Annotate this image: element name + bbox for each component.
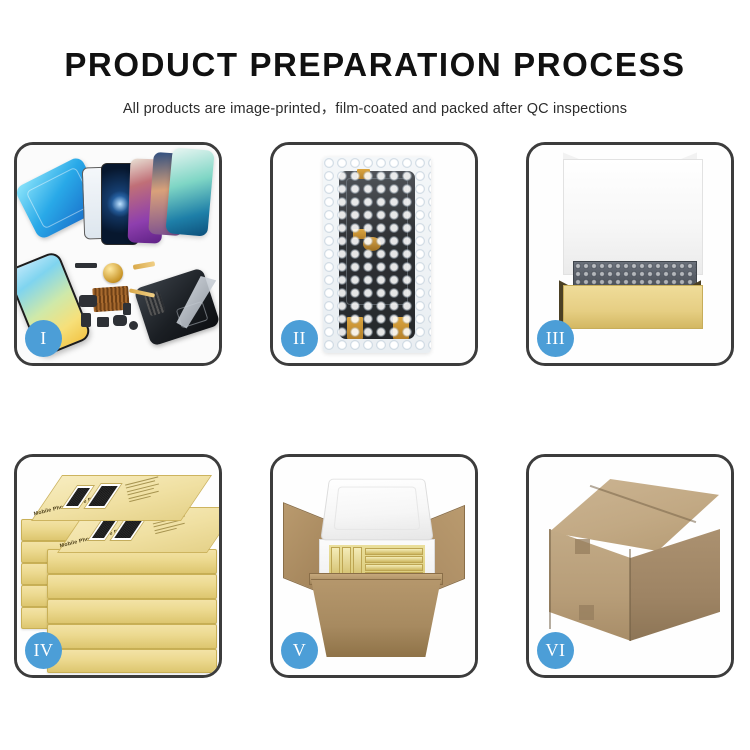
step-badge-1: I [25, 320, 62, 357]
wrapped-screen-assembly [339, 171, 415, 339]
process-step-grid: I II [14, 142, 738, 678]
carton-left-face [549, 529, 631, 641]
small-part [113, 315, 127, 326]
small-part [81, 313, 91, 327]
carton-tape-patch [579, 605, 594, 620]
tape-strip [357, 169, 370, 179]
bubble-wrap-bag [323, 157, 431, 353]
box-front-panel [563, 285, 703, 329]
tape-strip [347, 317, 363, 339]
process-step-4[interactable]: Mobile Phone Spare Parts Mobile Phone Sp… [14, 454, 222, 678]
printed-box-lid [31, 475, 212, 521]
carton-edge [629, 549, 631, 641]
process-step-2[interactable]: II [270, 142, 478, 366]
speaker-module-icon [103, 263, 123, 283]
small-part [75, 263, 97, 268]
phone-screen-teal [165, 147, 214, 236]
page-title: PRODUCT PREPARATION PROCESS [0, 0, 750, 81]
carton-tape-patch [575, 539, 590, 554]
carton-edge [549, 529, 551, 629]
small-part [79, 295, 97, 307]
stacked-box-edge [47, 624, 217, 649]
stacked-box-edge [47, 574, 217, 599]
product-preparation-infographic: PRODUCT PREPARATION PROCESS All products… [0, 0, 750, 750]
process-step-6[interactable]: VI [526, 454, 734, 678]
box-lid-white [563, 159, 703, 275]
process-step-5[interactable]: V [270, 454, 478, 678]
tape-strip [353, 229, 366, 239]
process-step-3[interactable]: III [526, 142, 734, 366]
page-subtitle: All products are image-printed，film-coat… [0, 81, 750, 118]
step-badge-4: IV [25, 632, 62, 669]
stacked-box-edge [47, 599, 217, 624]
small-part [97, 317, 109, 327]
step-badge-6: VI [537, 632, 574, 669]
stacked-box-edge [47, 649, 217, 673]
tape-strip [393, 317, 409, 339]
carton-body [311, 579, 441, 657]
foam-cooler-lid [320, 479, 433, 541]
step-badge-3: III [537, 320, 574, 357]
process-step-1[interactable]: I [14, 142, 222, 366]
step-badge-5: V [281, 632, 318, 669]
flex-cable [133, 261, 156, 270]
small-part [129, 321, 138, 330]
small-part [123, 303, 131, 315]
camera-module [363, 237, 381, 251]
step-badge-2: II [281, 320, 318, 357]
header: PRODUCT PREPARATION PROCESS All products… [0, 0, 750, 118]
